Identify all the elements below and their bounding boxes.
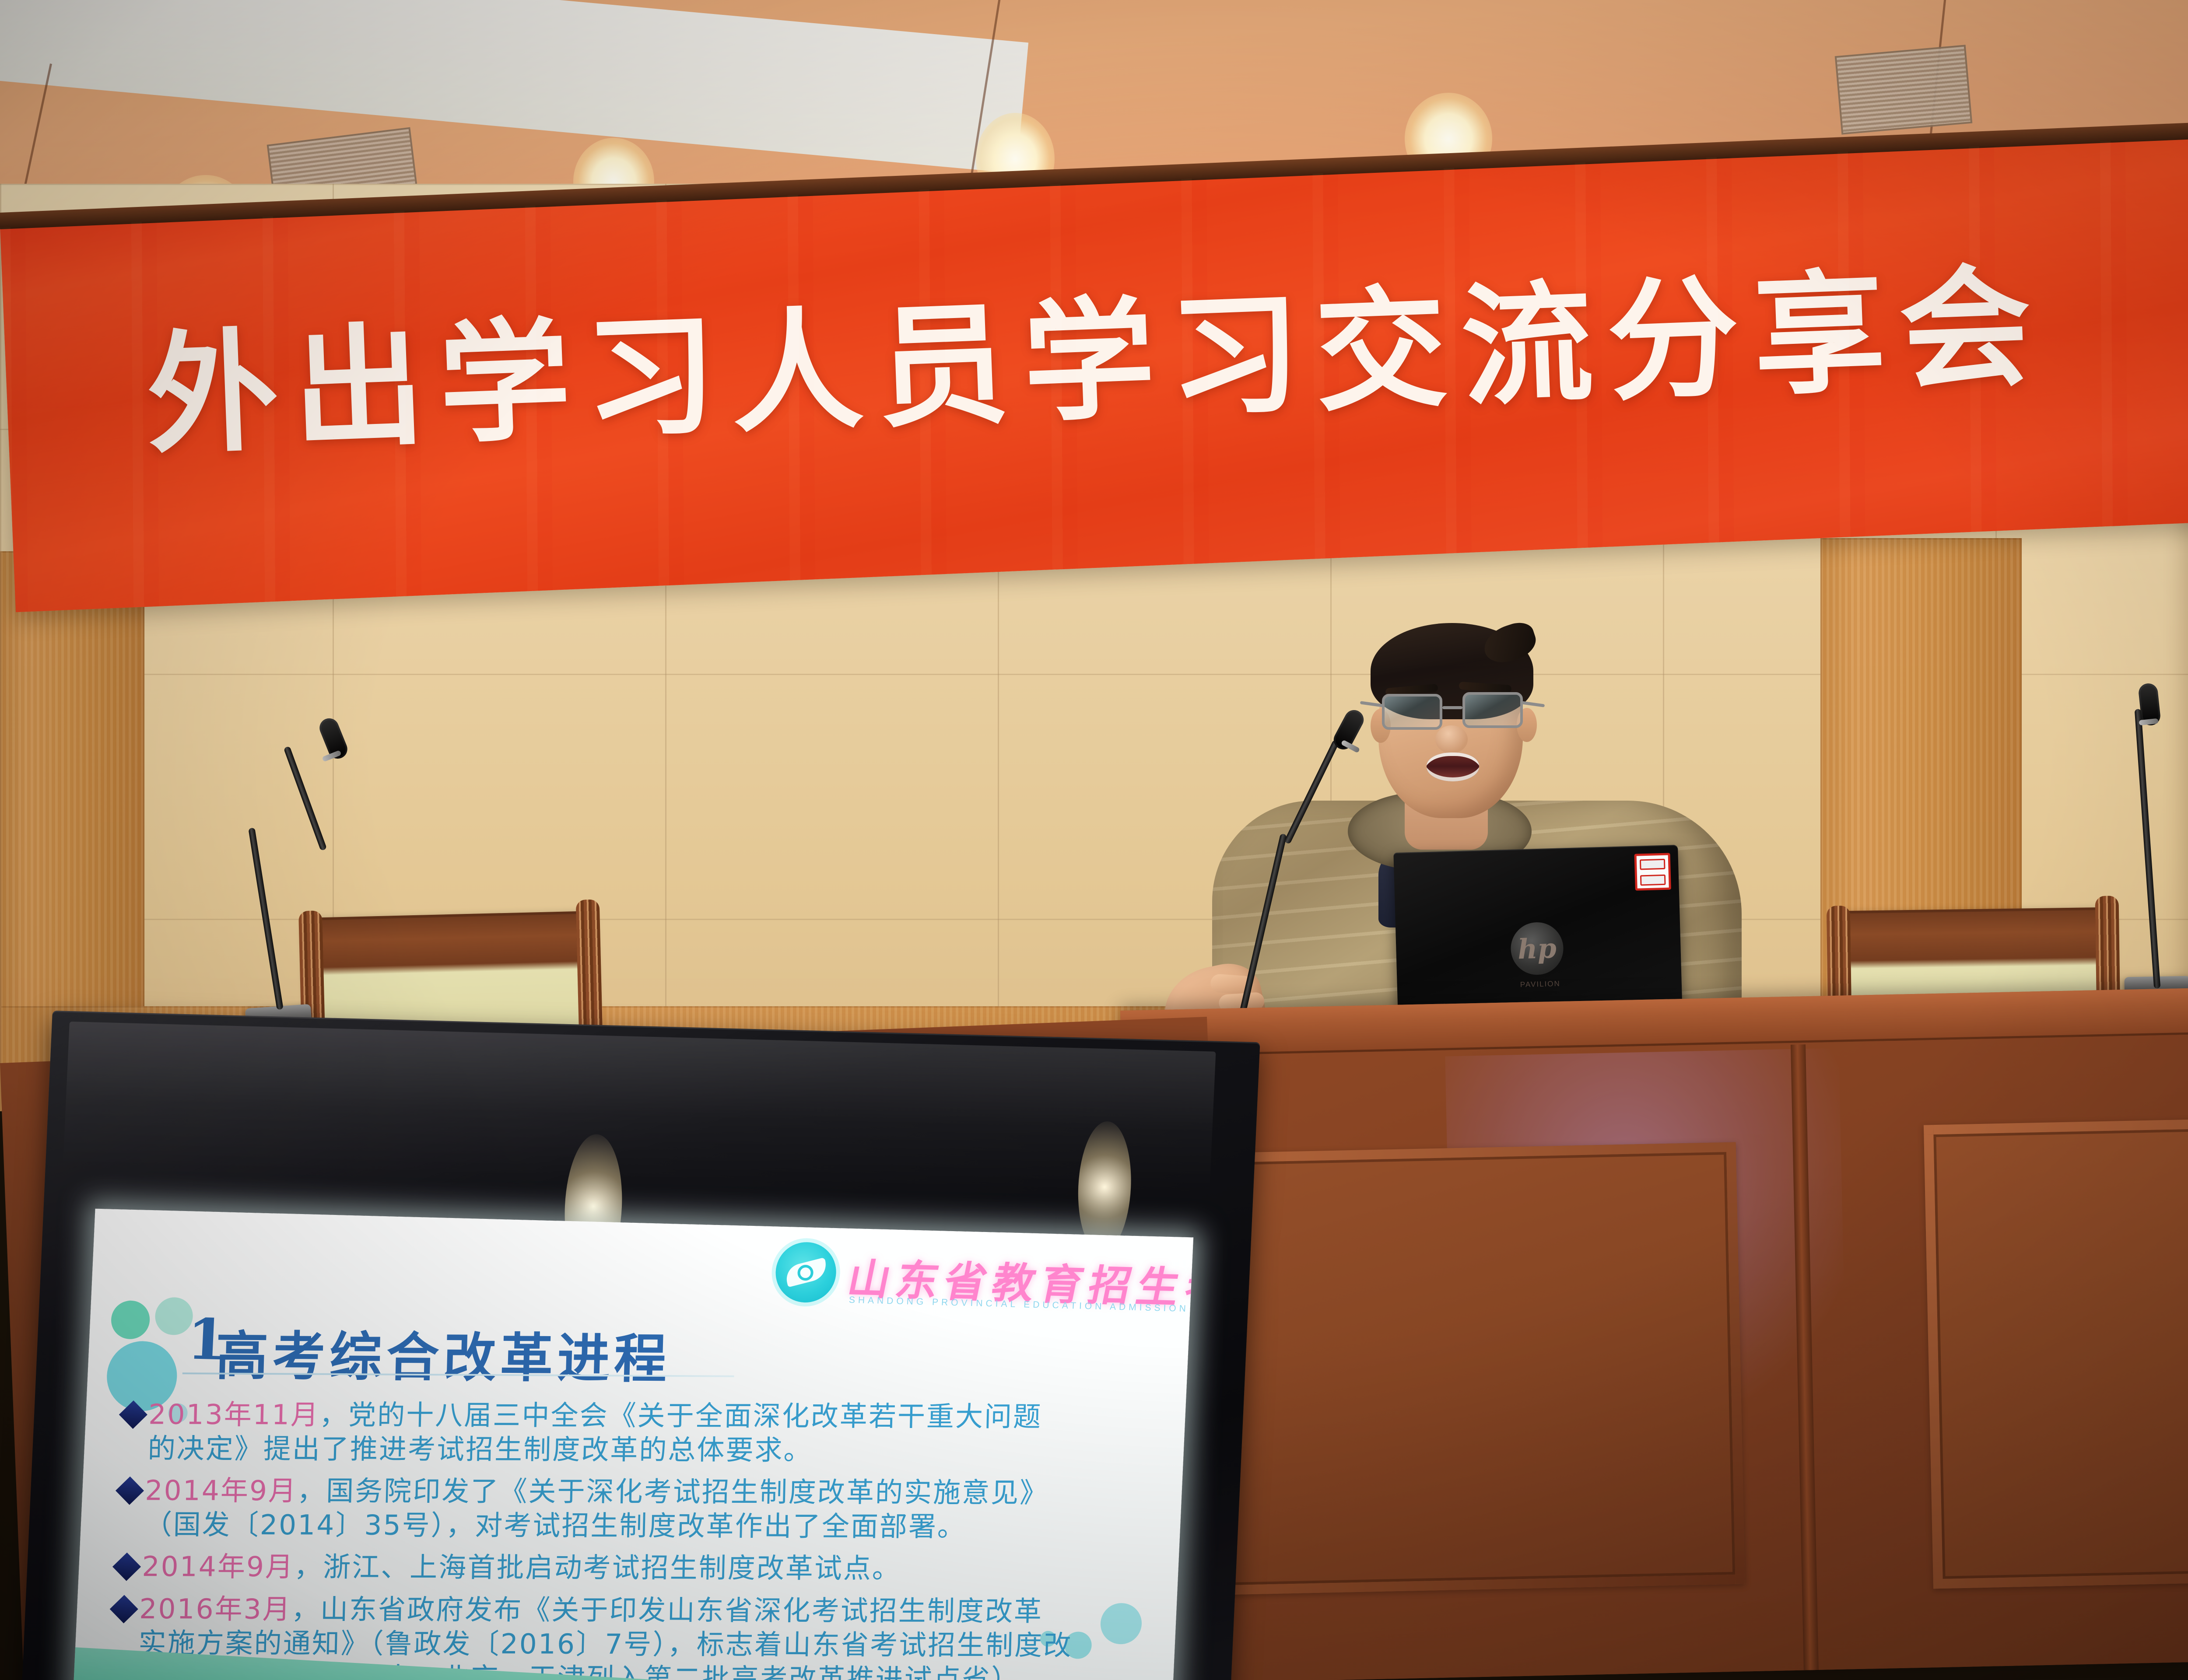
bullet-year: 2013年11月 xyxy=(148,1399,320,1431)
ceiling-air-vent xyxy=(1835,45,1973,134)
list-item: 2014年9月，浙江、上海首批启动考试招生制度改革试点。 xyxy=(116,1550,1159,1587)
podium-raised-panel xyxy=(1924,1114,2188,1589)
chair-post-right xyxy=(576,899,603,1043)
glasses-bridge xyxy=(1442,706,1462,709)
bullet-year: 2016年3月 xyxy=(139,1593,292,1625)
laptop-asset-tag xyxy=(1634,853,1671,891)
bullet-year: 2014年9月 xyxy=(142,1551,295,1583)
bullet-body: ，国务院印发了《关于深化考试招生制度改革的实施意见》 xyxy=(297,1475,1049,1509)
conference-hall-photo: 外出学习人员学习交流分享会 xyxy=(0,0,2188,1680)
banner-title-text: 外出学习人员学习交流分享会 xyxy=(143,219,2074,479)
bullet-line: 2013年11月，党的十八届三中全会《关于全面深化改革若干重大问题 的决定》提出… xyxy=(147,1398,1042,1468)
bullet-diamond-icon xyxy=(112,1553,141,1581)
list-item: 2014年9月，国务院印发了《关于深化考试招生制度改革的实施意见》 （国发〔20… xyxy=(119,1473,1162,1544)
glasses-lens-left xyxy=(1382,694,1442,730)
bullet-body-2: 的决定》提出了推进考试招生制度改革的总体要求。 xyxy=(147,1433,813,1466)
slide-content: 山东省教育招生考试院 SHANDONG PROVINCIAL EDUCATION… xyxy=(73,1209,1193,1680)
ceiling-white-soffit xyxy=(0,0,1028,173)
bullet-body: ，山东省政府发布《关于印发山东省深化考试招生制度改革 xyxy=(291,1593,1043,1627)
bullet-body: ，党的十八届三中全会《关于全面深化改革若干重大问题 xyxy=(319,1399,1042,1433)
slide-bullet-list: 2013年11月，党的十八届三中全会《关于全面深化改革若干重大问题 的决定》提出… xyxy=(107,1397,1166,1680)
speaker-nose xyxy=(1435,725,1468,753)
glasses-lens-right xyxy=(1462,692,1523,728)
bullet-diamond-icon xyxy=(116,1477,144,1505)
laptop-model-label: PAVILION xyxy=(1508,979,1573,990)
slide-title-text: 高考综合改革进程 xyxy=(215,1313,672,1393)
bullet-line: 2014年9月，浙江、上海首批启动考试招生制度改革试点。 xyxy=(142,1550,901,1586)
bullet-diamond-icon xyxy=(119,1400,147,1429)
institution-emblem-icon xyxy=(775,1241,838,1303)
speaker-mouth xyxy=(1427,752,1479,781)
decorative-dot xyxy=(110,1300,151,1340)
bullet-body: ，浙江、上海首批启动考试招生制度改革试点。 xyxy=(294,1551,901,1585)
bullet-body-2: （国发〔2014〕35号），对考试招生制度改革作出了全面部署。 xyxy=(144,1509,967,1543)
podium-raised-panel xyxy=(1171,1142,1745,1596)
display-glare xyxy=(63,1022,1216,1196)
list-item: 2013年11月，党的十八届三中全会《关于全面深化改革若干重大问题 的决定》提出… xyxy=(122,1397,1166,1468)
presentation-display: 山东省教育招生考试院 SHANDONG PROVINCIAL EDUCATION… xyxy=(21,1011,1260,1680)
bullet-year: 2014年9月 xyxy=(145,1475,298,1507)
bullet-diamond-icon xyxy=(110,1595,138,1623)
glasses-temple-right xyxy=(1521,701,1545,707)
slide-institution-logo: 山东省教育招生考试院 SHANDONG PROVINCIAL EDUCATION… xyxy=(774,1237,1162,1326)
podium-desk xyxy=(1120,981,2188,1680)
bullet-body-2: 实施方案的通知》（鲁政发〔2016〕7号），标志着山东省考试招生制度改 xyxy=(138,1627,1073,1662)
bullet-line: 2014年9月，国务院印发了《关于深化考试招生制度改革的实施意见》 （国发〔20… xyxy=(144,1474,1049,1545)
